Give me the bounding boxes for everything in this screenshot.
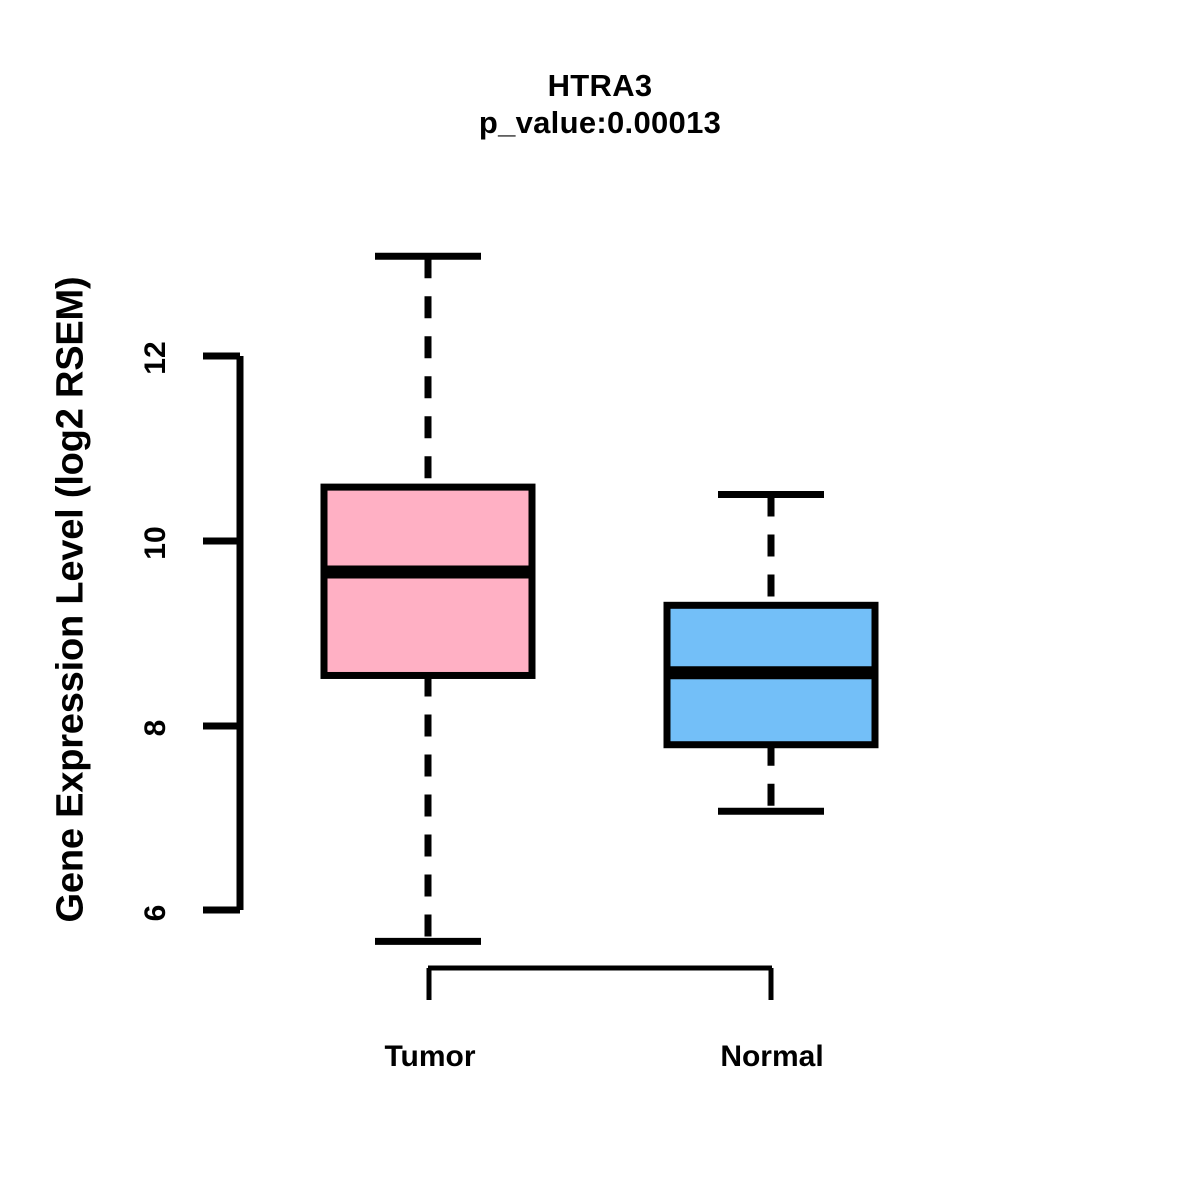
box-tumor[interactable] [321,256,535,941]
boxplot-figure: HTRA3 p_value:0.00013 Gene Expression Le… [0,0,1200,1200]
plot-canvas [0,0,1200,1200]
box-rect-tumor[interactable] [324,487,532,675]
y-axis [203,356,240,910]
box-normal[interactable] [664,495,878,812]
x-axis [428,968,772,1000]
